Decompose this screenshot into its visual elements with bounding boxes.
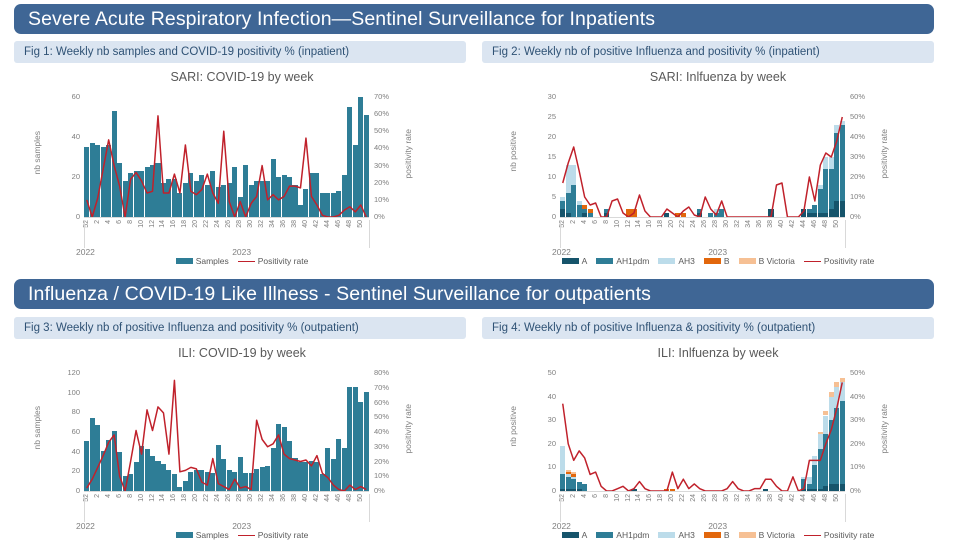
x-tick-label: 20 <box>192 220 199 228</box>
x-tick-label: 8 <box>127 220 134 224</box>
y-tick-label: 40 <box>50 447 80 456</box>
caption-fig2: Fig 2: Weekly nb of positive Influenza a… <box>482 41 934 63</box>
y2-tick-label: 40% <box>374 143 404 152</box>
x-tick-label: 46 <box>335 220 342 228</box>
x-tick-label: 2 <box>570 494 577 498</box>
y-tick-label: 40 <box>526 392 556 401</box>
x-tick-label: 20 <box>668 220 675 228</box>
x-tick-label: 34 <box>745 494 752 502</box>
x-tick-label: 20 <box>668 494 675 502</box>
y2-tick-label: 50% <box>374 126 404 135</box>
section-header-inpatients: Severe Acute Respiratory Infection—Senti… <box>14 4 934 34</box>
y-tick-label: 0 <box>50 486 80 495</box>
x-tick-label: 36 <box>280 220 287 228</box>
section-title: Severe Acute Respiratory Infection—Senti… <box>14 8 655 31</box>
y-tick-label: 20 <box>50 466 80 475</box>
y-axis-title: nb samples <box>32 131 42 174</box>
x-tick-label: 38 <box>767 220 774 228</box>
y2-tick-label: 20% <box>850 172 880 181</box>
x-tick-label: 32 <box>734 494 741 502</box>
chart-fig1: SARI: COVID-19 by week 02040600%10%20%30… <box>22 70 462 270</box>
x-tick-label: 4 <box>581 494 588 498</box>
x-tick-label: 28 <box>712 494 719 502</box>
legend-item[interactable]: B <box>704 530 730 540</box>
legend-item[interactable]: B <box>704 256 730 266</box>
caption-text: Fig 4: Weekly nb of positive Influenza &… <box>482 322 815 334</box>
x-tick-label: 40 <box>302 220 309 228</box>
year-tick <box>84 494 85 522</box>
caption-fig3: Fig 3: Weekly nb of positive Influenza a… <box>14 317 466 339</box>
x-tick-label: 8 <box>127 494 134 498</box>
legend-line-swatch <box>238 535 255 536</box>
chart-title: ILI: COVID-19 by week <box>22 346 462 360</box>
x-tick-label: 10 <box>138 494 145 502</box>
legend-item[interactable]: Samples <box>176 530 229 540</box>
y-tick-label: 10 <box>526 172 556 181</box>
x-tick-label: 30 <box>723 220 730 228</box>
y2-tick-label: 10% <box>850 462 880 471</box>
legend-color-swatch <box>739 258 756 264</box>
chart-title: ILI: Inlfuenza by week <box>498 346 938 360</box>
legend-label: Positivity rate <box>258 530 309 540</box>
y2-tick-label: 70% <box>374 383 404 392</box>
x-tick-label: 14 <box>635 494 642 502</box>
y2-tick-label: 0% <box>374 212 404 221</box>
y-tick-label: 100 <box>50 388 80 397</box>
legend-color-swatch <box>562 532 579 538</box>
y2-tick-label: 50% <box>850 112 880 121</box>
legend-color-swatch <box>176 258 193 264</box>
section-header-outpatients: Influenza / COVID-19 Like Illness - Sent… <box>14 279 934 309</box>
y-tick-label: 30 <box>526 92 556 101</box>
legend-color-swatch <box>658 258 675 264</box>
x-tick-label: 40 <box>778 494 785 502</box>
positivity-line <box>84 373 369 491</box>
x-tick-label: 26 <box>701 494 708 502</box>
x-tick-label: 10 <box>614 494 621 502</box>
legend-line-swatch <box>804 261 821 262</box>
legend-label: A <box>582 256 588 266</box>
x-tick-label: 6 <box>592 220 599 224</box>
caption-text: Fig 3: Weekly nb of positive Influenza a… <box>14 322 359 334</box>
y-tick-label: 60 <box>50 92 80 101</box>
legend-label: B <box>724 530 730 540</box>
x-tick-label: 10 <box>138 220 145 228</box>
x-tick-label: 46 <box>335 494 342 502</box>
x-tick-label: 36 <box>756 494 763 502</box>
x-tick-label: 50 <box>357 220 364 228</box>
x-tick-label: 12 <box>149 494 156 502</box>
y2-tick-label: 20% <box>850 439 880 448</box>
y2-axis-title: positivity rate <box>879 404 889 454</box>
year-tick <box>84 220 85 248</box>
x-tick-label: 40 <box>778 220 785 228</box>
legend-label: AH3 <box>678 256 695 266</box>
legend-label: Positivity rate <box>824 256 875 266</box>
legend-color-swatch <box>704 258 721 264</box>
legend-label: Samples <box>196 530 229 540</box>
y2-tick-label: 50% <box>850 368 880 377</box>
legend-label: Samples <box>196 256 229 266</box>
x-tick-label: 6 <box>116 494 123 498</box>
x-tick-label: 26 <box>225 220 232 228</box>
legend-label: AH1pdm <box>616 530 649 540</box>
x-tick-label: 42 <box>313 494 320 502</box>
y-tick-label: 80 <box>50 407 80 416</box>
legend-color-swatch <box>704 532 721 538</box>
y-tick-label: 10 <box>526 462 556 471</box>
x-tick-label: 42 <box>789 220 796 228</box>
y-axis-title: nb samples <box>32 406 42 449</box>
chart-legend: SamplesPositivity rate <box>22 256 462 266</box>
chart-legend: SamplesPositivity rate <box>22 530 462 540</box>
x-tick-label: 4 <box>581 220 588 224</box>
caption-fig1: Fig 1: Weekly nb samples and COVID-19 po… <box>14 41 466 63</box>
x-tick-label: 16 <box>646 220 653 228</box>
caption-text: Fig 1: Weekly nb samples and COVID-19 po… <box>14 46 349 58</box>
plot-area <box>84 373 369 491</box>
x-tick-label: 24 <box>214 220 221 228</box>
year-tick <box>369 494 370 522</box>
y2-tick-label: 40% <box>850 132 880 141</box>
x-tick-label: 30 <box>247 494 254 502</box>
y2-tick-label: 20% <box>374 457 404 466</box>
x-tick-label: 32 <box>258 494 265 502</box>
x-tick-label: 22 <box>679 220 686 228</box>
y-tick-label: 40 <box>50 132 80 141</box>
chart-title: SARI: COVID-19 by week <box>22 70 462 84</box>
x-tick-label: 46 <box>811 494 818 502</box>
x-tick-label: 44 <box>800 220 807 228</box>
legend-label: A <box>582 530 588 540</box>
caption-text: Fig 2: Weekly nb of positive Influenza a… <box>482 46 820 58</box>
chart-fig4: ILI: Inlfuenza by week 010203040500%10%2… <box>498 346 938 541</box>
legend-label: B Victoria <box>759 256 795 266</box>
x-tick-label: 38 <box>291 220 298 228</box>
x-tick-label: 28 <box>236 220 243 228</box>
y-tick-label: 20 <box>50 172 80 181</box>
legend-item[interactable]: AH1pdm <box>596 530 649 540</box>
legend-item[interactable]: Positivity rate <box>804 256 875 266</box>
y-axis-title: nb positive <box>508 406 518 447</box>
x-tick-label: 22 <box>203 220 210 228</box>
x-tick-label: 12 <box>625 220 632 228</box>
x-tick-label: 26 <box>701 220 708 228</box>
x-tick-label: 32 <box>258 220 265 228</box>
legend-color-swatch <box>739 532 756 538</box>
x-tick-label: 18 <box>181 494 188 502</box>
x-tick-label: 32 <box>734 220 741 228</box>
x-tick-label: 18 <box>657 220 664 228</box>
x-tick-label: 4 <box>105 494 112 498</box>
chart-fig3: ILI: COVID-19 by week 0204060801001200%1… <box>22 346 462 541</box>
x-tick-label: 16 <box>170 220 177 228</box>
y2-tick-label: 10% <box>374 471 404 480</box>
x-tick-label: 16 <box>170 494 177 502</box>
x-tick-label: 14 <box>635 220 642 228</box>
plot-area <box>560 97 845 217</box>
y2-tick-label: 20% <box>374 178 404 187</box>
x-tick-label: 8 <box>603 494 610 498</box>
x-tick-label: 44 <box>324 220 331 228</box>
x-tick-label: 2 <box>94 220 101 224</box>
x-tick-label: 22 <box>203 494 210 502</box>
year-tick <box>845 494 846 522</box>
x-tick-label: 48 <box>822 220 829 228</box>
legend-item[interactable]: AH3 <box>658 530 695 540</box>
x-tick-label: 16 <box>646 494 653 502</box>
x-tick-label: 44 <box>324 494 331 502</box>
x-tick-label: 40 <box>302 494 309 502</box>
x-tick-label: 12 <box>149 220 156 228</box>
y2-tick-label: 0% <box>850 486 880 495</box>
y2-axis-title: positivity rate <box>403 404 413 454</box>
y-tick-label: 20 <box>526 439 556 448</box>
x-tick-label: 2 <box>570 220 577 224</box>
x-tick-label: 24 <box>214 494 221 502</box>
legend-color-swatch <box>596 258 613 264</box>
y2-tick-label: 40% <box>850 392 880 401</box>
legend-item[interactable]: A <box>562 256 588 266</box>
x-tick-label: 2 <box>94 494 101 498</box>
y-tick-label: 30 <box>526 415 556 424</box>
y-tick-label: 0 <box>526 486 556 495</box>
y-tick-label: 0 <box>526 212 556 221</box>
legend-label: AH1pdm <box>616 256 649 266</box>
x-tick-label: 20 <box>192 494 199 502</box>
y2-tick-label: 30% <box>850 415 880 424</box>
y2-tick-label: 80% <box>374 368 404 377</box>
y2-tick-label: 30% <box>374 161 404 170</box>
x-tick-label: 28 <box>712 220 719 228</box>
x-tick-label: 50 <box>357 494 364 502</box>
legend-color-swatch <box>596 532 613 538</box>
legend-label: B Victoria <box>759 530 795 540</box>
legend-item[interactable]: Samples <box>176 256 229 266</box>
positivity-line <box>560 97 845 217</box>
legend-item[interactable]: A <box>562 530 588 540</box>
legend-color-swatch <box>658 532 675 538</box>
year-tick <box>560 220 561 248</box>
x-axis-line <box>84 217 369 218</box>
x-tick-label: 30 <box>723 494 730 502</box>
y2-tick-label: 0% <box>374 486 404 495</box>
x-tick-label: 46 <box>811 220 818 228</box>
x-tick-label: 34 <box>269 494 276 502</box>
y2-tick-label: 60% <box>374 398 404 407</box>
x-tick-label: 36 <box>280 494 287 502</box>
y2-tick-label: 60% <box>374 109 404 118</box>
x-tick-label: 50 <box>833 220 840 228</box>
y2-tick-label: 10% <box>850 192 880 201</box>
positivity-line <box>560 373 845 491</box>
y-tick-label: 5 <box>526 192 556 201</box>
y-tick-label: 120 <box>50 368 80 377</box>
x-tick-label: 4 <box>105 220 112 224</box>
x-tick-label: 14 <box>159 220 166 228</box>
y2-tick-label: 50% <box>374 412 404 421</box>
y2-tick-label: 10% <box>374 195 404 204</box>
x-tick-label: 38 <box>291 494 298 502</box>
y2-tick-label: 0% <box>850 212 880 221</box>
x-tick-label: 50 <box>833 494 840 502</box>
x-axis-line <box>560 491 845 492</box>
legend-label: Positivity rate <box>258 256 309 266</box>
y2-tick-label: 30% <box>850 152 880 161</box>
x-tick-label: 6 <box>116 220 123 224</box>
x-tick-label: 24 <box>690 494 697 502</box>
x-tick-label: 18 <box>181 220 188 228</box>
year-tick <box>560 494 561 522</box>
y2-axis-title: positivity rate <box>879 129 889 179</box>
x-tick-label: 22 <box>679 494 686 502</box>
legend-line-swatch <box>804 535 821 536</box>
y-axis-title: nb positive <box>508 131 518 172</box>
x-tick-label: 44 <box>800 494 807 502</box>
legend-color-swatch <box>176 532 193 538</box>
chart-legend: AAH1pdmAH3BB VictoriaPositivity rate <box>498 530 938 540</box>
x-axis-line <box>84 491 369 492</box>
y-tick-label: 60 <box>50 427 80 436</box>
x-tick-label: 42 <box>789 494 796 502</box>
legend-item[interactable]: B Victoria <box>739 530 795 540</box>
legend-label: Positivity rate <box>824 530 875 540</box>
x-tick-label: 36 <box>756 220 763 228</box>
plot-area <box>84 97 369 217</box>
x-tick-label: 34 <box>745 220 752 228</box>
y2-tick-label: 60% <box>850 92 880 101</box>
chart-legend: AAH1pdmAH3BB VictoriaPositivity rate <box>498 256 938 266</box>
y2-tick-label: 70% <box>374 92 404 101</box>
legend-line-swatch <box>238 261 255 262</box>
y-tick-label: 15 <box>526 152 556 161</box>
year-tick <box>369 220 370 248</box>
legend-item[interactable]: AH1pdm <box>596 256 649 266</box>
chart-fig2: SARI: Inlfuenza by week 0510152025300%10… <box>498 70 938 275</box>
year-tick <box>845 220 846 248</box>
y2-axis-title: positivity rate <box>403 129 413 179</box>
x-tick-label: 12 <box>625 494 632 502</box>
x-tick-label: 38 <box>767 494 774 502</box>
legend-color-swatch <box>562 258 579 264</box>
legend-label: B <box>724 256 730 266</box>
y-tick-label: 50 <box>526 368 556 377</box>
y-tick-label: 0 <box>50 212 80 221</box>
x-tick-label: 26 <box>225 494 232 502</box>
x-tick-label: 18 <box>657 494 664 502</box>
x-tick-label: 48 <box>346 494 353 502</box>
y-tick-label: 20 <box>526 132 556 141</box>
section-title: Influenza / COVID-19 Like Illness - Sent… <box>14 283 651 306</box>
x-tick-label: 24 <box>690 220 697 228</box>
y2-tick-label: 40% <box>374 427 404 436</box>
y-tick-label: 25 <box>526 112 556 121</box>
x-tick-label: 30 <box>247 220 254 228</box>
y2-tick-label: 30% <box>374 442 404 451</box>
x-tick-label: 10 <box>614 220 621 228</box>
legend-item[interactable]: Positivity rate <box>804 530 875 540</box>
x-tick-label: 48 <box>822 494 829 502</box>
x-tick-label: 48 <box>346 220 353 228</box>
legend-item[interactable]: AH3 <box>658 256 695 266</box>
positivity-line <box>84 97 369 217</box>
x-tick-label: 42 <box>313 220 320 228</box>
legend-item[interactable]: Positivity rate <box>238 256 309 266</box>
x-tick-label: 6 <box>592 494 599 498</box>
legend-label: AH3 <box>678 530 695 540</box>
x-tick-label: 28 <box>236 494 243 502</box>
chart-title: SARI: Inlfuenza by week <box>498 70 938 84</box>
x-tick-label: 14 <box>159 494 166 502</box>
dashboard-page: Severe Acute Respiratory Infection—Senti… <box>0 0 963 541</box>
legend-item[interactable]: B Victoria <box>739 256 795 266</box>
x-axis-line <box>560 217 845 218</box>
plot-area <box>560 373 845 491</box>
legend-item[interactable]: Positivity rate <box>238 530 309 540</box>
x-tick-label: 8 <box>603 220 610 224</box>
x-tick-label: 34 <box>269 220 276 228</box>
caption-fig4: Fig 4: Weekly nb of positive Influenza &… <box>482 317 934 339</box>
